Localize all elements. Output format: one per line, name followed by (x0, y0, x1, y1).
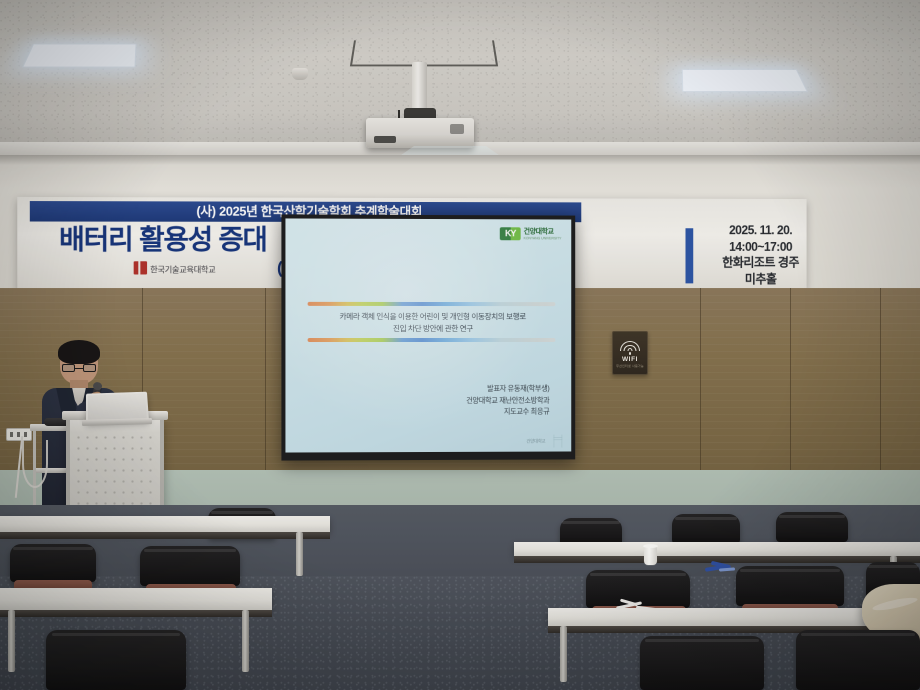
chair (10, 544, 96, 582)
banner-info-venue: 한화리조트 경주 (707, 255, 814, 271)
slide-presenter-dept: 건양대학교 재난안전소방학과 (370, 394, 550, 406)
slide-gradient-bar-bottom (308, 338, 556, 342)
table-leg (8, 610, 15, 672)
wifi-sublabel: 무선인터넷 사용가능 (616, 364, 644, 368)
chair (672, 514, 740, 544)
wifi-label: WIFI (622, 356, 638, 363)
ky-logo-sub: KONYANG UNIVERSITY (524, 236, 562, 240)
presenter-glasses-icon (62, 364, 96, 372)
white-cable (616, 600, 674, 616)
ceiling-light-left (22, 44, 136, 67)
conference-room-photo: (사) 2025년 한국산학기술학회 추계학술대회 배터리 활용성 증대 한국기… (0, 0, 920, 690)
wifi-sign: WIFI 무선인터넷 사용가능 (612, 331, 648, 375)
slide-footer-text: 건양대학교 (526, 439, 545, 445)
chair (796, 630, 920, 690)
banner-divider (685, 228, 693, 283)
wifi-icon (619, 338, 641, 351)
paper-cup (644, 546, 657, 565)
ky-logo-text: 건양대학교 KONYANG UNIVERSITY (524, 226, 562, 240)
banner-info-time: 14:00~17:00 (707, 239, 814, 255)
table-leg (560, 626, 567, 682)
konyang-university-logo: KY 건양대학교 KONYANG UNIVERSITY (500, 226, 562, 240)
slide-presenter-name: 발표자 유동재(학부생) (370, 383, 550, 395)
slide-gradient-bar-top (308, 302, 556, 306)
slide-presenter-advisor: 지도교수 최응규 (370, 406, 550, 418)
slide-presenter-block: 발표자 유동재(학부생) 건양대학교 재난안전소방학과 지도교수 최응규 (370, 383, 550, 418)
banner-info-date: 2025. 11. 20. (707, 222, 814, 238)
table-leg (296, 532, 303, 576)
slide-title: 카메라 객체 인식을 이용한 어린이 및 개인형 이동장치의 보행로 진입 차단… (306, 311, 560, 334)
table-row (514, 542, 920, 556)
ceiling-projector (366, 118, 474, 148)
blue-lanyard (705, 562, 735, 574)
power-cable-loop (22, 440, 48, 488)
banner-info-hall: 미추홀 (707, 271, 814, 287)
projector-pole (412, 62, 427, 114)
koreatech-logo-icon (134, 261, 147, 274)
chair (46, 630, 186, 690)
table-leg (242, 610, 249, 672)
banner-host-logo-label: 한국기술교육대학교 (150, 264, 215, 275)
projected-slide: KY 건양대학교 KONYANG UNIVERSITY 카메라 객체 인식을 이… (285, 218, 571, 452)
chair (776, 512, 848, 542)
presenter-hair (58, 340, 100, 364)
ky-logo-mark: KY (500, 227, 521, 240)
ceiling-wall-shadow (0, 155, 920, 165)
smoke-detector-icon (292, 68, 308, 80)
chair (640, 636, 764, 690)
table-row (0, 588, 272, 610)
ky-logo-name: 건양대학교 (524, 228, 554, 235)
banner-info-block: 2025. 11. 20. 14:00~17:00 한화리조트 경주 미추홀 (707, 222, 814, 287)
slide-title-line2: 진입 차단 방안에 관한 연구 (306, 322, 560, 334)
ceiling-light-right (682, 69, 808, 91)
wifi-dot-icon (629, 352, 632, 355)
slide-title-line1: 카메라 객체 인식을 이용한 어린이 및 개인형 이동장치의 보행로 (306, 311, 560, 323)
slide-footer-mark-icon (553, 435, 562, 448)
projection-screen-frame: KY 건양대학교 KONYANG UNIVERSITY 카메라 객체 인식을 이… (281, 214, 575, 460)
table-row (0, 516, 330, 532)
chair (736, 566, 844, 606)
chair (140, 546, 240, 586)
laptop-screen (88, 394, 147, 421)
